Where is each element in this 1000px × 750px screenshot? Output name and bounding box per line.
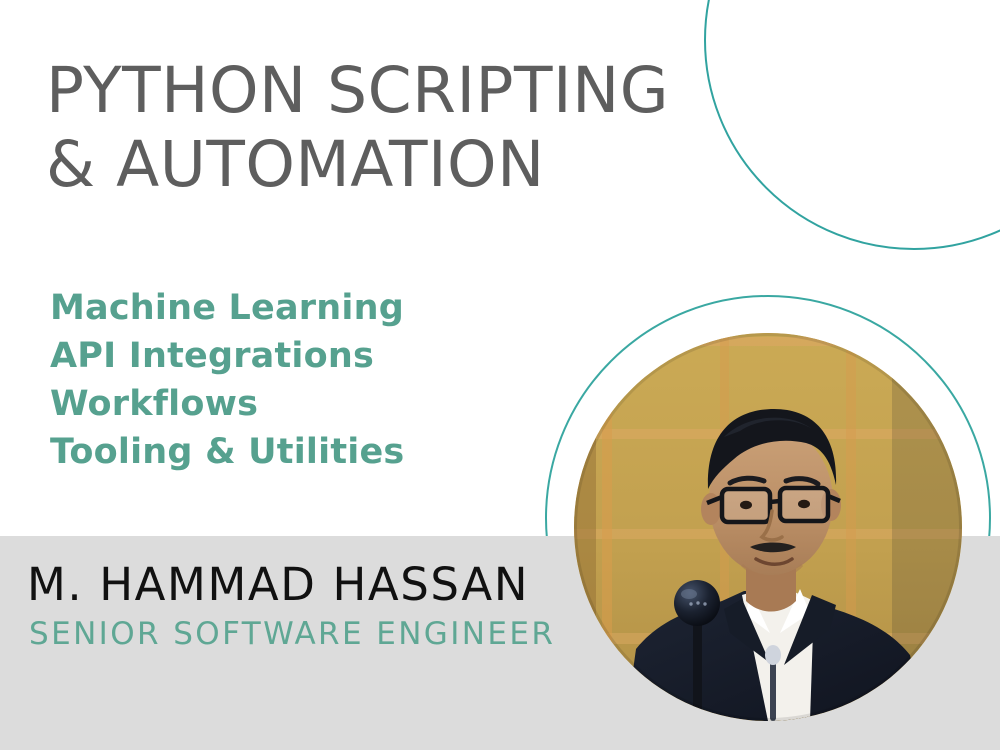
- skills-list: Machine Learning API Integrations Workfl…: [50, 285, 404, 477]
- slide-canvas: PYTHON SCRIPTING & AUTOMATION Machine Le…: [0, 0, 1000, 750]
- page-title: PYTHON SCRIPTING & AUTOMATION: [46, 54, 706, 203]
- page-title-line-1: PYTHON SCRIPTING: [46, 54, 706, 128]
- avatar: [574, 333, 962, 721]
- list-item: Machine Learning: [50, 285, 404, 333]
- list-item: API Integrations: [50, 333, 404, 381]
- person-role: SENIOR SOFTWARE ENGINEER: [29, 616, 555, 652]
- list-item: Tooling & Utilities: [50, 429, 404, 477]
- page-title-line-2: & AUTOMATION: [46, 128, 706, 202]
- person-name: M. HAMMAD HASSAN: [27, 558, 529, 611]
- decorative-arc-icon: [704, 0, 1000, 250]
- list-item: Workflows: [50, 381, 404, 429]
- portrait-photo: [574, 333, 962, 721]
